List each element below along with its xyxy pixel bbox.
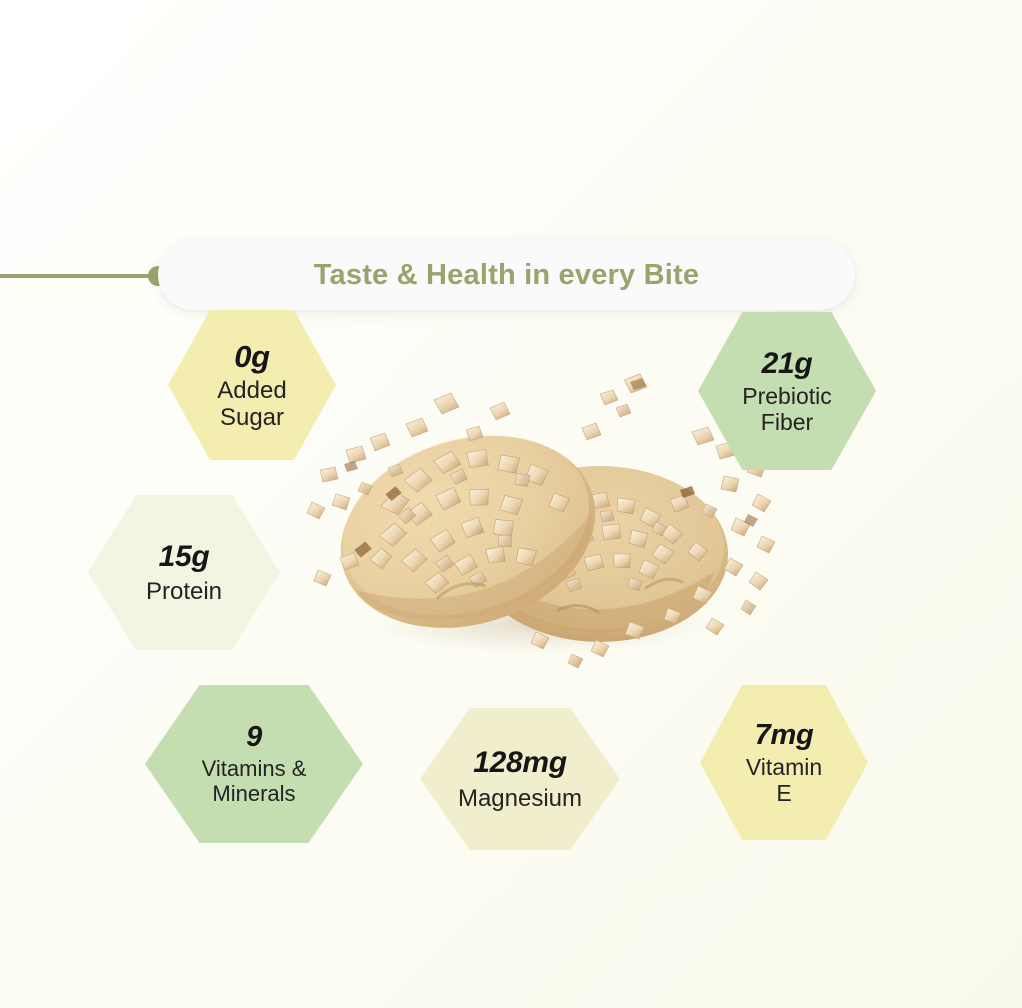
hex-value-magnesium: 128mg — [473, 746, 567, 780]
hex-label-protein-line1: Protein — [146, 578, 222, 605]
nutrition-hex-vitamin-e: 7mg Vitamin E — [700, 685, 868, 840]
hex-label-prebiotic-fiber-line2: Fiber — [761, 409, 813, 435]
hex-label-vitamin-e-line2: E — [776, 780, 791, 806]
nutrition-hex-vitamins-minerals: 9 Vitamins & Minerals — [145, 685, 363, 843]
connector-line — [0, 274, 160, 278]
header-banner: Taste & Health in every Bite — [0, 118, 1022, 198]
hex-value-vitamins-minerals: 9 — [246, 721, 262, 754]
hex-label-added-sugar-line1: Added — [217, 377, 286, 404]
hex-label-magnesium-line1: Magnesium — [458, 785, 582, 812]
nutrition-hex-magnesium: 128mg Magnesium — [420, 708, 620, 850]
hex-label-added-sugar-line2: Sugar — [220, 404, 284, 431]
hex-value-protein: 15g — [159, 540, 210, 574]
nutrition-hex-protein: 15g Protein — [88, 495, 280, 650]
hex-label-vitamins-minerals-line2: Minerals — [212, 782, 295, 807]
page-title: Taste & Health in every Bite — [314, 259, 699, 292]
hex-value-added-sugar: 0g — [234, 339, 270, 374]
hex-value-prebiotic-fiber: 21g — [762, 347, 813, 381]
hex-label-vitamin-e-line1: Vitamin — [746, 754, 822, 780]
title-pill: Taste & Health in every Bite — [158, 240, 855, 310]
hex-label-prebiotic-fiber-line1: Prebiotic — [742, 383, 831, 409]
hex-value-vitamin-e: 7mg — [755, 719, 814, 752]
hex-label-vitamins-minerals-line1: Vitamins & — [202, 757, 307, 782]
